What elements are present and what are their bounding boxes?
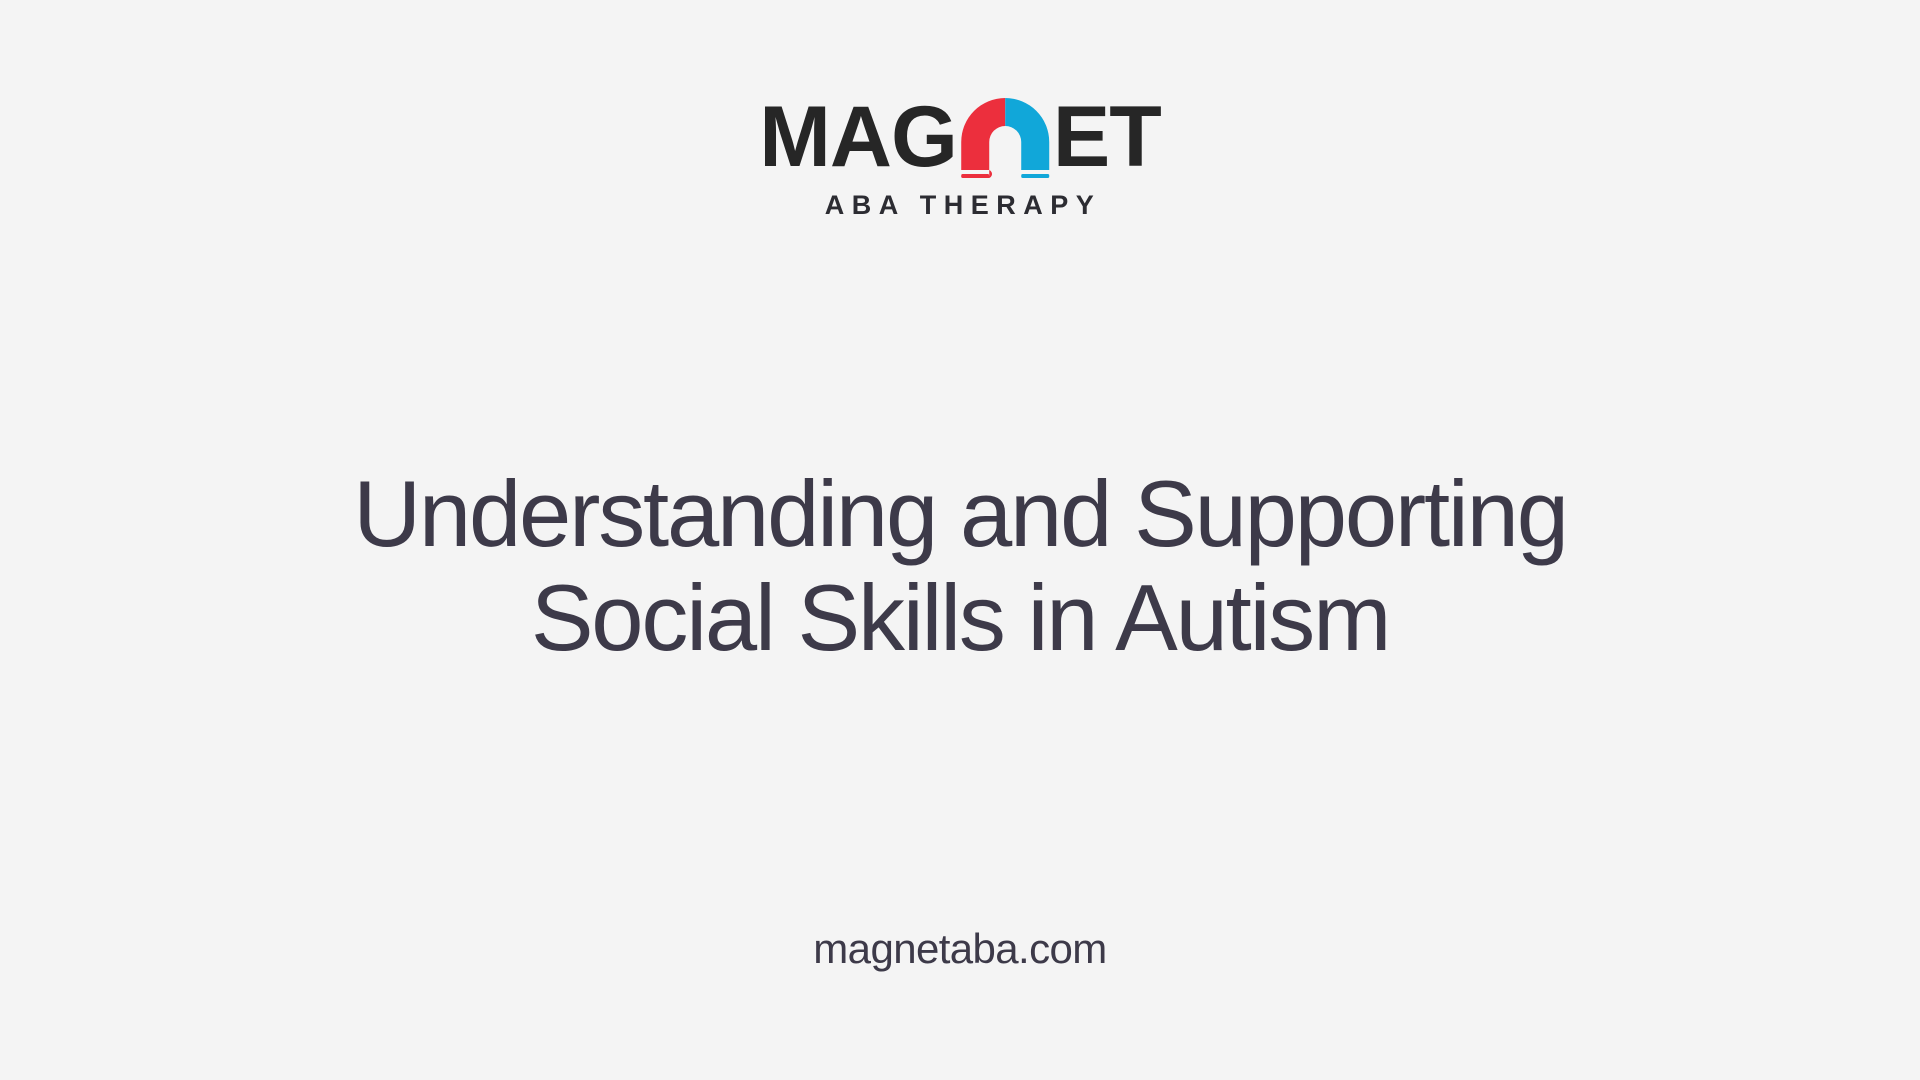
brand-tagline: ABA THERAPY bbox=[825, 190, 1102, 221]
wordmark-prefix: MAG bbox=[759, 96, 957, 178]
brand-logo: MAG ET ABA THERAPY bbox=[759, 96, 1161, 221]
brand-wordmark: MAG ET bbox=[759, 96, 1161, 178]
page-title-line-1: Understanding and Supporting bbox=[0, 462, 1920, 566]
magnet-icon bbox=[959, 96, 1051, 178]
page-title: Understanding and Supporting Social Skil… bbox=[0, 462, 1920, 670]
page-title-line-2: Social Skills in Autism bbox=[0, 566, 1920, 670]
title-card-slide: MAG ET ABA THERAPY Underst bbox=[0, 0, 1920, 1080]
wordmark-suffix: ET bbox=[1053, 96, 1161, 178]
site-url: magnetaba.com bbox=[0, 925, 1920, 973]
